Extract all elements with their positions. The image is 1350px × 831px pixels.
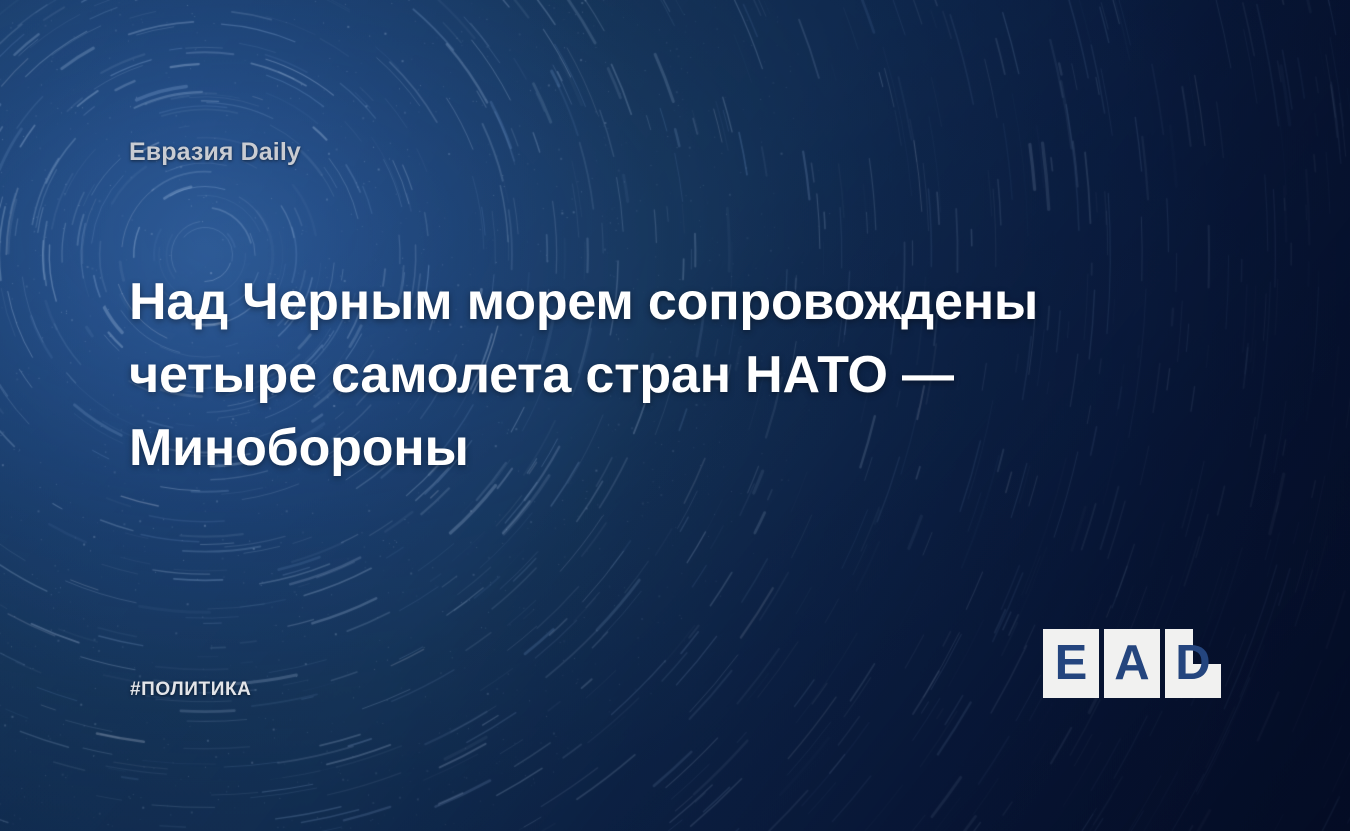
social-share-card: Евразия Daily Над Черным морем сопровожд… xyxy=(0,0,1350,831)
logo-letter-a: A xyxy=(1104,629,1160,698)
site-name: Евразия Daily xyxy=(129,138,301,167)
logo-tile-a: A xyxy=(1104,629,1160,698)
ead-logo[interactable]: E A D xyxy=(1043,629,1221,698)
headline-line-3: Минобороны xyxy=(129,412,1129,485)
headline-line-1: Над Черным морем сопровождены xyxy=(129,266,1129,339)
logo-letter-d: D xyxy=(1165,629,1221,698)
logo-tile-d: D xyxy=(1165,629,1221,698)
headline: Над Черным морем сопровождены четыре сам… xyxy=(129,266,1129,485)
card-content: Евразия Daily Над Черным морем сопровожд… xyxy=(0,0,1350,831)
logo-letter-e: E xyxy=(1043,629,1099,698)
logo-tile-e: E xyxy=(1043,629,1099,698)
category-hashtag[interactable]: #ПОЛИТИКА xyxy=(130,679,252,701)
headline-line-2: четыре самолета стран НАТО — xyxy=(129,339,1129,412)
